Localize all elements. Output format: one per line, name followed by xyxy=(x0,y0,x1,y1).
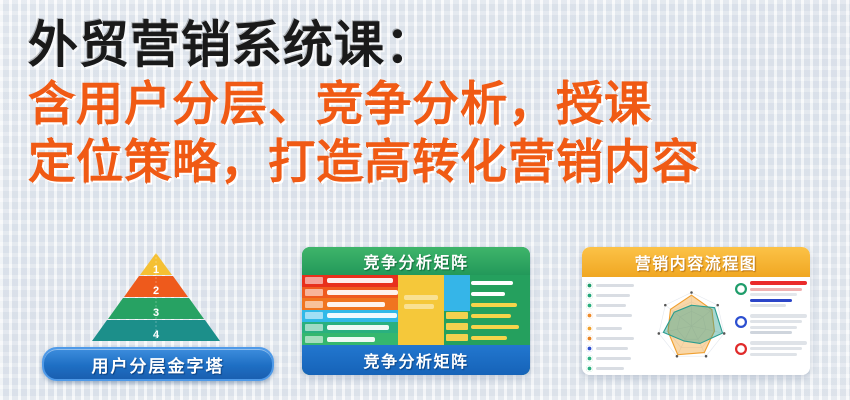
matrix-mid-column xyxy=(398,275,444,345)
pyramid-label-text: 用户分层金字塔 xyxy=(92,352,225,377)
matrix-row xyxy=(302,298,398,310)
radar-axis-point xyxy=(690,291,693,294)
cards-row: 1 2 3 4 用户分层金字塔 竞争分析矩阵 xyxy=(0,245,850,395)
flow-detail-line xyxy=(750,320,802,323)
pyramid-label-button[interactable]: 用户分层金字塔 xyxy=(42,347,274,381)
matrix-right-bar xyxy=(471,325,519,329)
matrix-row-tag xyxy=(305,277,323,284)
flow-detail-line xyxy=(750,347,802,350)
matrix-footer-title: 竞争分析矩阵 xyxy=(363,348,468,372)
flow-legend-dot-icon xyxy=(586,365,593,372)
pyramid-number-1: 1 xyxy=(153,264,159,276)
flow-legend-list xyxy=(582,277,650,375)
flow-detail-line xyxy=(750,288,802,291)
flow-detail-line xyxy=(750,326,797,329)
flow-legend-text xyxy=(596,304,626,307)
radar-axis-point xyxy=(705,355,708,358)
matrix-row xyxy=(302,310,398,322)
headline-line-3: 定位策略，打造高转化营销内容 xyxy=(28,132,850,194)
matrix-row-bar xyxy=(327,325,389,330)
radar-chart xyxy=(650,277,733,375)
flow-detail-line xyxy=(750,304,786,307)
flow-detail-gear-icon xyxy=(735,343,747,355)
matrix-row-bar xyxy=(327,337,375,342)
matrix-row xyxy=(302,333,398,345)
matrix-row-bar xyxy=(327,313,397,318)
flow-legend-text xyxy=(596,327,622,330)
flow-radar-area xyxy=(650,277,733,375)
matrix-mid-block-2 xyxy=(404,304,434,309)
matrix-row-tag xyxy=(305,324,323,331)
flow-detail-lines xyxy=(750,341,807,359)
matrix-header-title: 竞争分析矩阵 xyxy=(363,249,468,273)
flow-legend-item[interactable] xyxy=(586,292,648,299)
flow-detail-line xyxy=(750,314,807,318)
flow-detail-group[interactable] xyxy=(735,341,807,359)
matrix-right-bar xyxy=(471,336,507,340)
matrix-left-column xyxy=(302,275,398,345)
matrix-row-bar xyxy=(327,290,398,295)
flow-legend-text xyxy=(596,284,634,287)
flow-legend-dot-icon xyxy=(586,355,593,362)
matrix-right-bar xyxy=(471,314,511,318)
headline-line-2: 含用户分层、竞争分析，授课 xyxy=(28,74,850,136)
flow-header: 营销内容流程图 xyxy=(582,247,810,277)
card-competition-matrix[interactable]: 竞争分析矩阵 竞争分析矩阵 xyxy=(302,247,530,375)
pyramid-number-3: 3 xyxy=(153,307,159,319)
flow-legend-item[interactable] xyxy=(586,302,648,309)
flow-detail-group[interactable] xyxy=(735,281,807,310)
flow-header-title: 营销内容流程图 xyxy=(635,250,758,274)
flow-legend-text xyxy=(596,314,632,317)
flow-legend-dot-icon xyxy=(586,282,593,289)
matrix-right-tag xyxy=(446,301,468,308)
flow-detail-line xyxy=(750,281,807,285)
flow-legend-dot-icon xyxy=(586,345,593,352)
card-marketing-flow[interactable]: 营销内容流程图 xyxy=(582,247,810,375)
radar-axis-point xyxy=(676,355,679,358)
flow-legend-text xyxy=(596,367,624,370)
flow-legend-item[interactable] xyxy=(586,325,648,332)
poster-root: 外贸营销系统课： 含用户分层、竞争分析，授课 定位策略，打造高转化营销内容 1 … xyxy=(0,0,850,400)
headline-block: 外贸营销系统课： 含用户分层、竞争分析，授课 定位策略，打造高转化营销内容 xyxy=(28,14,850,194)
card-user-pyramid[interactable]: 1 2 3 4 用户分层金字塔 xyxy=(42,247,270,387)
pyramid-graphic: 1 2 3 4 xyxy=(42,247,270,343)
flow-legend-dot-icon xyxy=(586,335,593,342)
matrix-row-bar xyxy=(327,278,393,283)
matrix-footer: 竞争分析矩阵 xyxy=(302,345,530,375)
flow-detail-gear-icon xyxy=(735,283,747,295)
flow-legend-text xyxy=(596,294,630,297)
flow-legend-dot-icon xyxy=(586,325,593,332)
matrix-body xyxy=(302,275,530,345)
flow-detail-line xyxy=(750,353,797,356)
flow-legend-text xyxy=(596,337,634,340)
flow-detail-gear-icon xyxy=(735,316,747,328)
flow-body xyxy=(582,277,810,375)
pyramid-svg: 1 2 3 4 xyxy=(91,251,221,343)
flow-detail-lines xyxy=(750,281,807,310)
flow-detail-lines xyxy=(750,314,807,337)
headline-line-1: 外贸营销系统课： xyxy=(28,14,850,76)
flow-legend-dot-icon xyxy=(586,302,593,309)
matrix-right-bar xyxy=(471,281,513,285)
flow-legend-item[interactable] xyxy=(586,282,648,289)
flow-detail-group[interactable] xyxy=(735,314,807,337)
radar-axis-point xyxy=(664,304,667,307)
pyramid-number-4: 4 xyxy=(153,329,160,341)
matrix-right-bar xyxy=(471,303,517,307)
flow-legend-text xyxy=(596,347,628,350)
matrix-row xyxy=(302,287,398,299)
flow-legend-item[interactable] xyxy=(586,365,648,372)
flow-detail-list xyxy=(733,277,810,375)
matrix-right-bar xyxy=(471,292,505,296)
matrix-row-tag xyxy=(305,312,323,319)
matrix-right-tag xyxy=(446,323,468,330)
flow-legend-item[interactable] xyxy=(586,355,648,362)
flow-detail-line xyxy=(750,341,807,345)
flow-legend-item[interactable] xyxy=(586,312,648,319)
matrix-mid-block-1 xyxy=(404,295,438,300)
matrix-right-tag xyxy=(446,312,468,319)
flow-legend-dot-icon xyxy=(586,312,593,319)
flow-detail-line xyxy=(750,331,792,334)
flow-legend-item[interactable] xyxy=(586,335,648,342)
matrix-right-tag xyxy=(446,334,468,341)
matrix-row xyxy=(302,322,398,334)
radar-axis-point xyxy=(658,332,661,335)
radar-axis-point xyxy=(723,332,726,335)
matrix-row xyxy=(302,275,398,287)
matrix-row-tag xyxy=(305,301,323,308)
matrix-right-column xyxy=(444,275,530,345)
flow-legend-text xyxy=(596,357,631,360)
flow-detail-line xyxy=(750,299,792,302)
matrix-row-bar xyxy=(327,302,385,307)
matrix-right-tag xyxy=(446,290,468,297)
matrix-row-tag xyxy=(305,289,323,296)
flow-legend-item[interactable] xyxy=(586,345,648,352)
matrix-header: 竞争分析矩阵 xyxy=(302,247,530,275)
flow-legend-dot-icon xyxy=(586,292,593,299)
flow-detail-line xyxy=(750,293,797,296)
matrix-row-tag xyxy=(305,336,323,343)
radar-axis-point xyxy=(716,304,719,307)
pyramid-number-2: 2 xyxy=(153,285,159,297)
matrix-right-tag xyxy=(446,279,468,286)
